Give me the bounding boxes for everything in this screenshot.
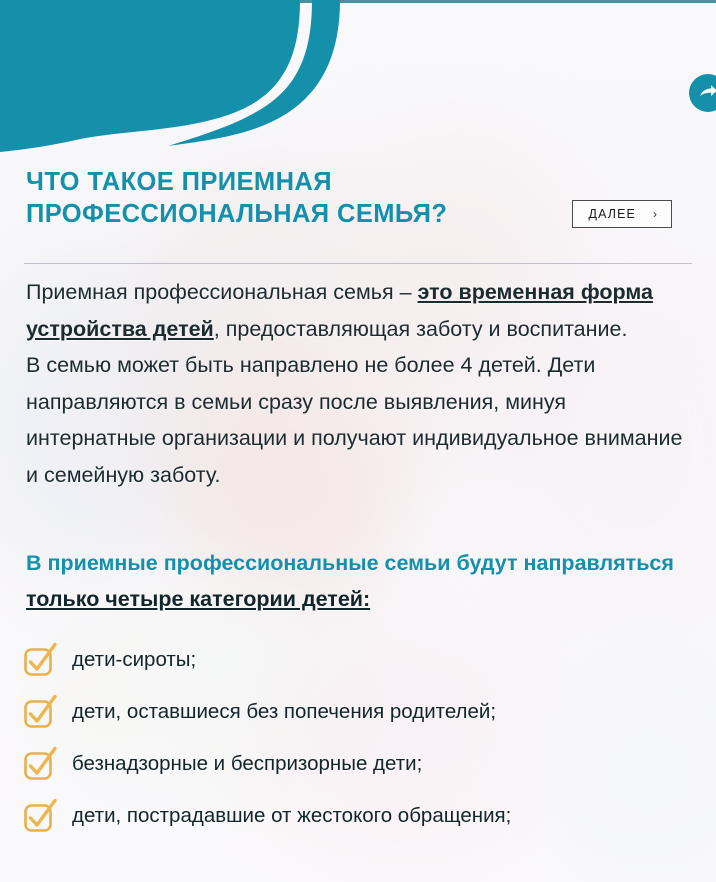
list-item-label: дети-сироты; (72, 647, 196, 673)
paragraph-definition: Приемная профессиональная семья – это вр… (26, 274, 696, 347)
next-button[interactable]: ДАЛЕЕ › (572, 200, 672, 228)
checkbox-check-icon (22, 799, 56, 833)
next-button-label: ДАЛЕЕ (589, 207, 636, 221)
list-item: безнадзорные и беспризорные дети; (22, 738, 702, 790)
paragraph-definition-lead: Приемная профессиональная семья – (26, 280, 418, 304)
category-list: дети-сироты; дети, оставшиеся без попече… (22, 634, 702, 842)
list-item-label: дети, пострадавшие от жестокого обращени… (72, 803, 511, 829)
subheading-emphasis: только четыре категории детей: (26, 587, 370, 611)
page-title: ЧТО ТАКОЕ ПРИЕМНАЯ ПРОФЕССИОНАЛЬНАЯ СЕМЬ… (26, 166, 447, 230)
section-divider (24, 263, 692, 264)
header-decoration (0, 0, 420, 150)
paragraph-placement: В семью может быть направлено не более 4… (26, 347, 696, 493)
list-item-label: безнадзорные и беспризорные дети; (72, 751, 422, 777)
checkbox-check-icon (22, 747, 56, 781)
subheading-teal: В приемные профессиональные семьи будут … (26, 551, 674, 575)
title-row: ЧТО ТАКОЕ ПРИЕМНАЯ ПРОФЕССИОНАЛЬНАЯ СЕМЬ… (26, 166, 690, 230)
subheading: В приемные профессиональные семьи будут … (26, 545, 696, 617)
checkbox-check-icon (22, 695, 56, 729)
paragraph-definition-tail: , предоставляющая заботу и воспитание. (214, 317, 628, 341)
chevron-right-icon: › (653, 208, 657, 220)
list-item-label: дети, оставшиеся без попечения родителей… (72, 699, 496, 725)
body-text: Приемная профессиональная семья – это вр… (26, 274, 696, 493)
list-item: дети, оставшиеся без попечения родителей… (22, 686, 702, 738)
list-item: дети, пострадавшие от жестокого обращени… (22, 790, 702, 842)
list-item: дети-сироты; (22, 634, 702, 686)
slide-page: ЧТО ТАКОЕ ПРИЕМНАЯ ПРОФЕССИОНАЛЬНАЯ СЕМЬ… (0, 0, 716, 882)
checkbox-check-icon (22, 643, 56, 677)
